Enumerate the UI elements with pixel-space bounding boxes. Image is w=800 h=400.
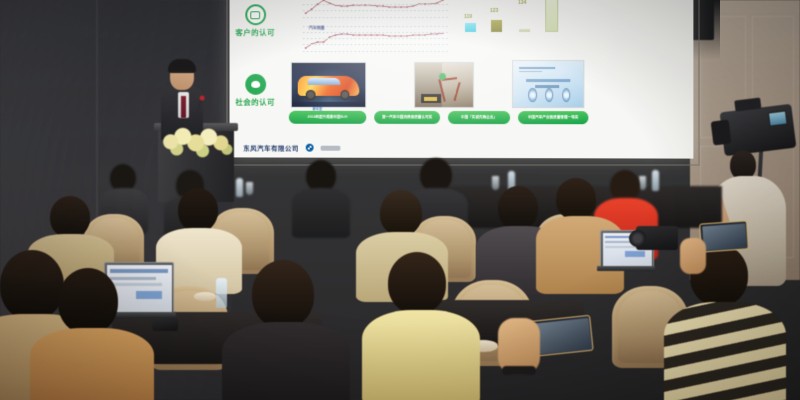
water-bottle bbox=[236, 178, 243, 197]
camera-viewfinder-screen bbox=[768, 110, 788, 126]
video-camera bbox=[720, 104, 797, 156]
camera-lens-hood bbox=[711, 120, 732, 146]
bar-value-0: 119 bbox=[464, 14, 472, 20]
coffee-cup bbox=[194, 292, 216, 301]
water-bottle bbox=[216, 278, 227, 308]
bar-value-2: 134 bbox=[518, 0, 526, 6]
bar-0 bbox=[465, 23, 476, 32]
smartphone-recording[interactable] bbox=[699, 220, 749, 252]
slide-section-society-label: 社会的认可 bbox=[235, 97, 275, 108]
index-bar-chart: 119 123 134 152 +13% bbox=[464, 0, 572, 42]
slide-section-customer: 客户的认可 bbox=[235, 4, 275, 38]
camera-top-handle bbox=[734, 98, 761, 112]
customer-approval-icon bbox=[245, 4, 266, 25]
projection-screen: 客户的认可 社会的认可 bbox=[230, 0, 694, 159]
award-tile-certificate bbox=[512, 60, 584, 108]
slide-section-customer-label: 客户的认可 bbox=[235, 27, 275, 38]
lower-trend-chart: 汽车销量 bbox=[303, 26, 450, 52]
award-pill-1[interactable]: 第一汽车中国消费者质量认可奖 bbox=[374, 111, 440, 124]
company-logo-icon bbox=[306, 144, 314, 152]
presentation-slide: 客户的认可 社会的认可 bbox=[230, 0, 694, 159]
upper-trend-chart bbox=[303, 0, 450, 18]
dslr-camera[interactable] bbox=[152, 318, 178, 331]
award-tile-trophy bbox=[414, 62, 474, 108]
speaker-tie bbox=[181, 96, 186, 118]
award-tile-car-caption bbox=[292, 102, 365, 107]
dslr-camera[interactable] bbox=[636, 226, 678, 250]
drinking-glass bbox=[639, 176, 646, 190]
hand-holding-phone bbox=[680, 238, 706, 274]
orange-suv-photo bbox=[292, 63, 365, 107]
award-pill-0[interactable]: 2018年度外观最中国SUV bbox=[289, 111, 366, 124]
drinking-glass bbox=[246, 182, 253, 195]
water-bottle bbox=[652, 170, 659, 191]
bar-3 bbox=[545, 0, 558, 32]
bar-2 bbox=[519, 29, 530, 32]
lower-chart-grid bbox=[303, 26, 450, 52]
speaker-glasses-icon bbox=[172, 71, 192, 76]
award-tile-car bbox=[291, 62, 366, 108]
podium-flower-arrangement bbox=[160, 122, 236, 158]
slide-section-society: 社会的认可 bbox=[235, 74, 275, 108]
conference-photo: 客户的认可 社会的认可 bbox=[0, 0, 800, 400]
upper-chart-grid bbox=[303, 0, 450, 18]
bar-1 bbox=[491, 20, 502, 32]
award-pill-3[interactable]: 中国汽车产业链质量管理一等奖 bbox=[518, 111, 588, 124]
wristwatch bbox=[502, 366, 536, 375]
trophy-photo bbox=[415, 63, 473, 107]
partner-logo-icon bbox=[321, 145, 341, 150]
society-approval-icon bbox=[245, 74, 266, 95]
award-pill-2[interactable]: 中国「实诚先锋企业」 bbox=[448, 111, 510, 124]
slide-footer-company: 东风汽车有限公司 bbox=[243, 143, 298, 153]
slide-footer: 东风汽车有限公司 bbox=[243, 143, 340, 153]
lower-chart-sublabel: 汽车销量 bbox=[309, 25, 325, 31]
certificate-photo bbox=[513, 61, 583, 107]
drinking-glass bbox=[492, 176, 499, 190]
bar-value-1: 123 bbox=[490, 8, 498, 14]
